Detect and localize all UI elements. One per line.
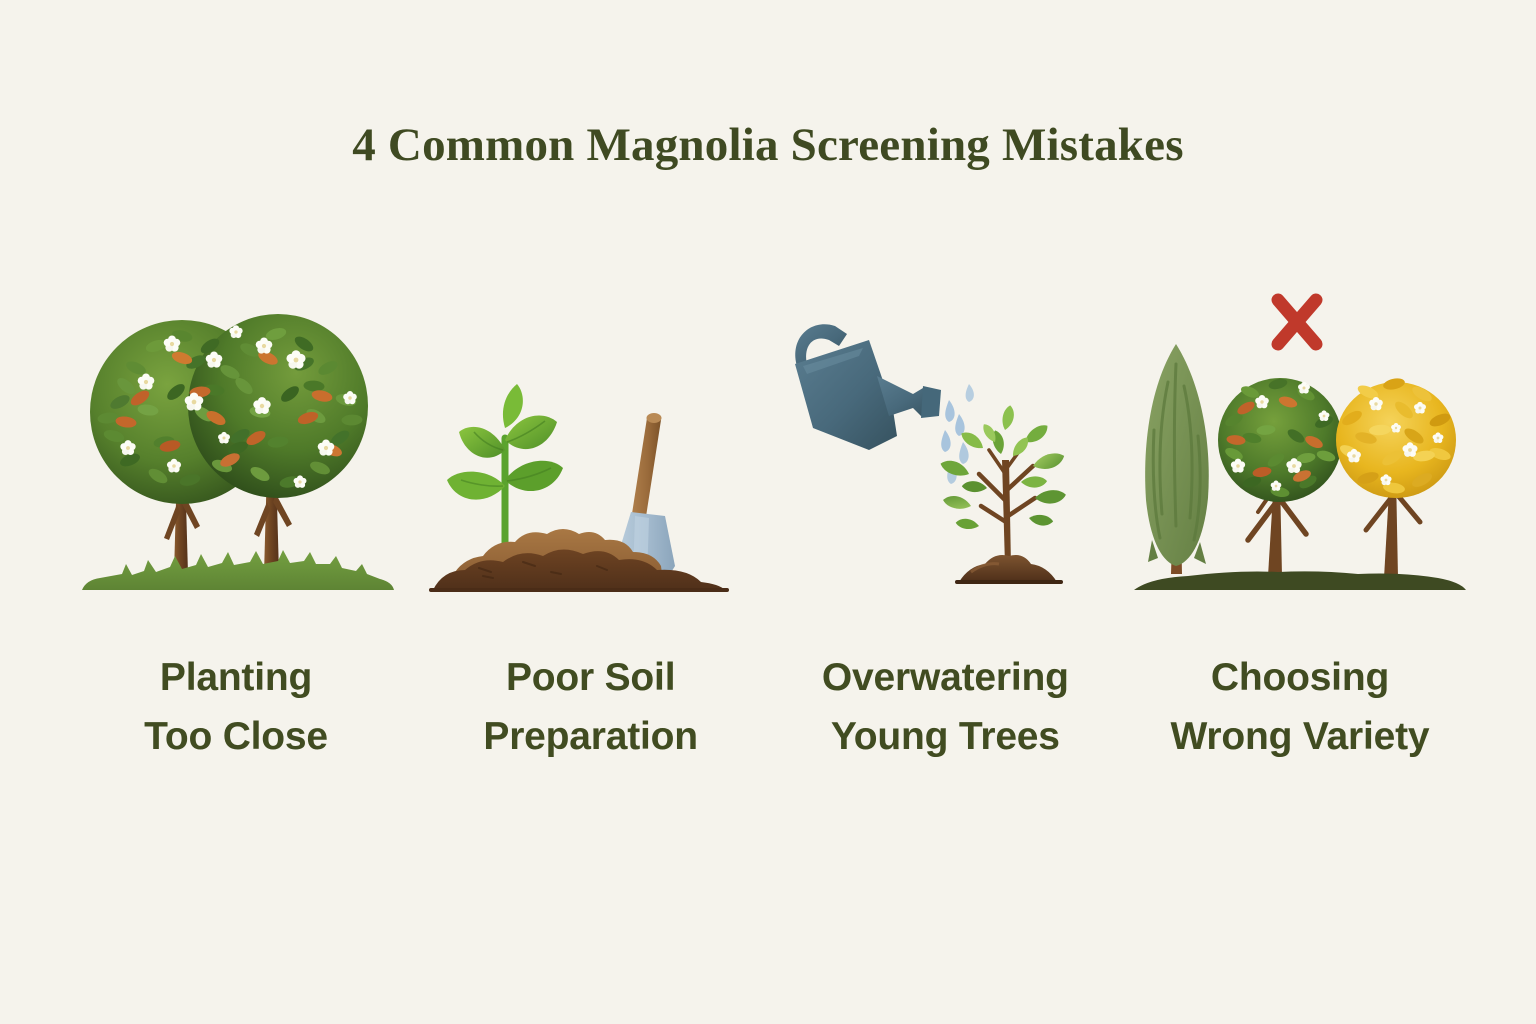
panel-caption-poor-soil-preparation: Poor Soil Preparation — [419, 648, 763, 767]
caption-line-2: Preparation — [419, 707, 763, 766]
caption-line-1: Choosing — [1128, 648, 1472, 707]
panel-overwatering-young-trees[interactable]: Overwatering Young Trees — [773, 290, 1117, 810]
panel-caption-overwatering-young-trees: Overwatering Young Trees — [773, 648, 1117, 767]
sapling-trunk — [979, 446, 1035, 566]
spade-handle-cap — [646, 413, 661, 423]
infographic-root: 4 Common Magnolia Screening Mistakes — [0, 0, 1536, 1024]
panel-planting-too-close[interactable]: Planting Too Close — [64, 290, 408, 810]
caption-line-2: Too Close — [64, 707, 408, 766]
illustration-two-magnolia-trees — [64, 290, 408, 610]
illustration-seedling-soil-spade — [419, 290, 763, 610]
red-x-icon — [1278, 300, 1316, 344]
panel-caption-planting-too-close: Planting Too Close — [64, 648, 408, 767]
caption-line-1: Poor Soil — [419, 648, 763, 707]
page-title: 4 Common Magnolia Screening Mistakes — [0, 118, 1536, 172]
panel-choosing-wrong-variety[interactable]: Choosing Wrong Variety — [1128, 290, 1472, 810]
title-container: 4 Common Magnolia Screening Mistakes — [0, 118, 1536, 172]
caption-line-2: Young Trees — [773, 707, 1117, 766]
illustration-three-varieties-red-x — [1128, 290, 1472, 610]
ground-shadow — [429, 588, 729, 592]
grass-mound — [82, 550, 394, 590]
caption-line-2: Wrong Variety — [1128, 707, 1472, 766]
ground-shadow — [955, 580, 1063, 584]
soil-mound-front — [433, 549, 725, 590]
caption-line-1: Overwatering — [773, 648, 1117, 707]
panel-poor-soil-preparation[interactable]: Poor Soil Preparation — [419, 290, 763, 810]
watering-can-spout-rose — [921, 386, 941, 418]
caption-line-1: Planting — [64, 648, 408, 707]
illustration-watering-can-sapling — [773, 290, 1117, 610]
panel-caption-choosing-wrong-variety: Choosing Wrong Variety — [1128, 648, 1472, 767]
spade-handle — [631, 418, 661, 523]
mistake-panels: Planting Too Close — [64, 290, 1472, 810]
dark-ground-mound — [1134, 571, 1466, 590]
